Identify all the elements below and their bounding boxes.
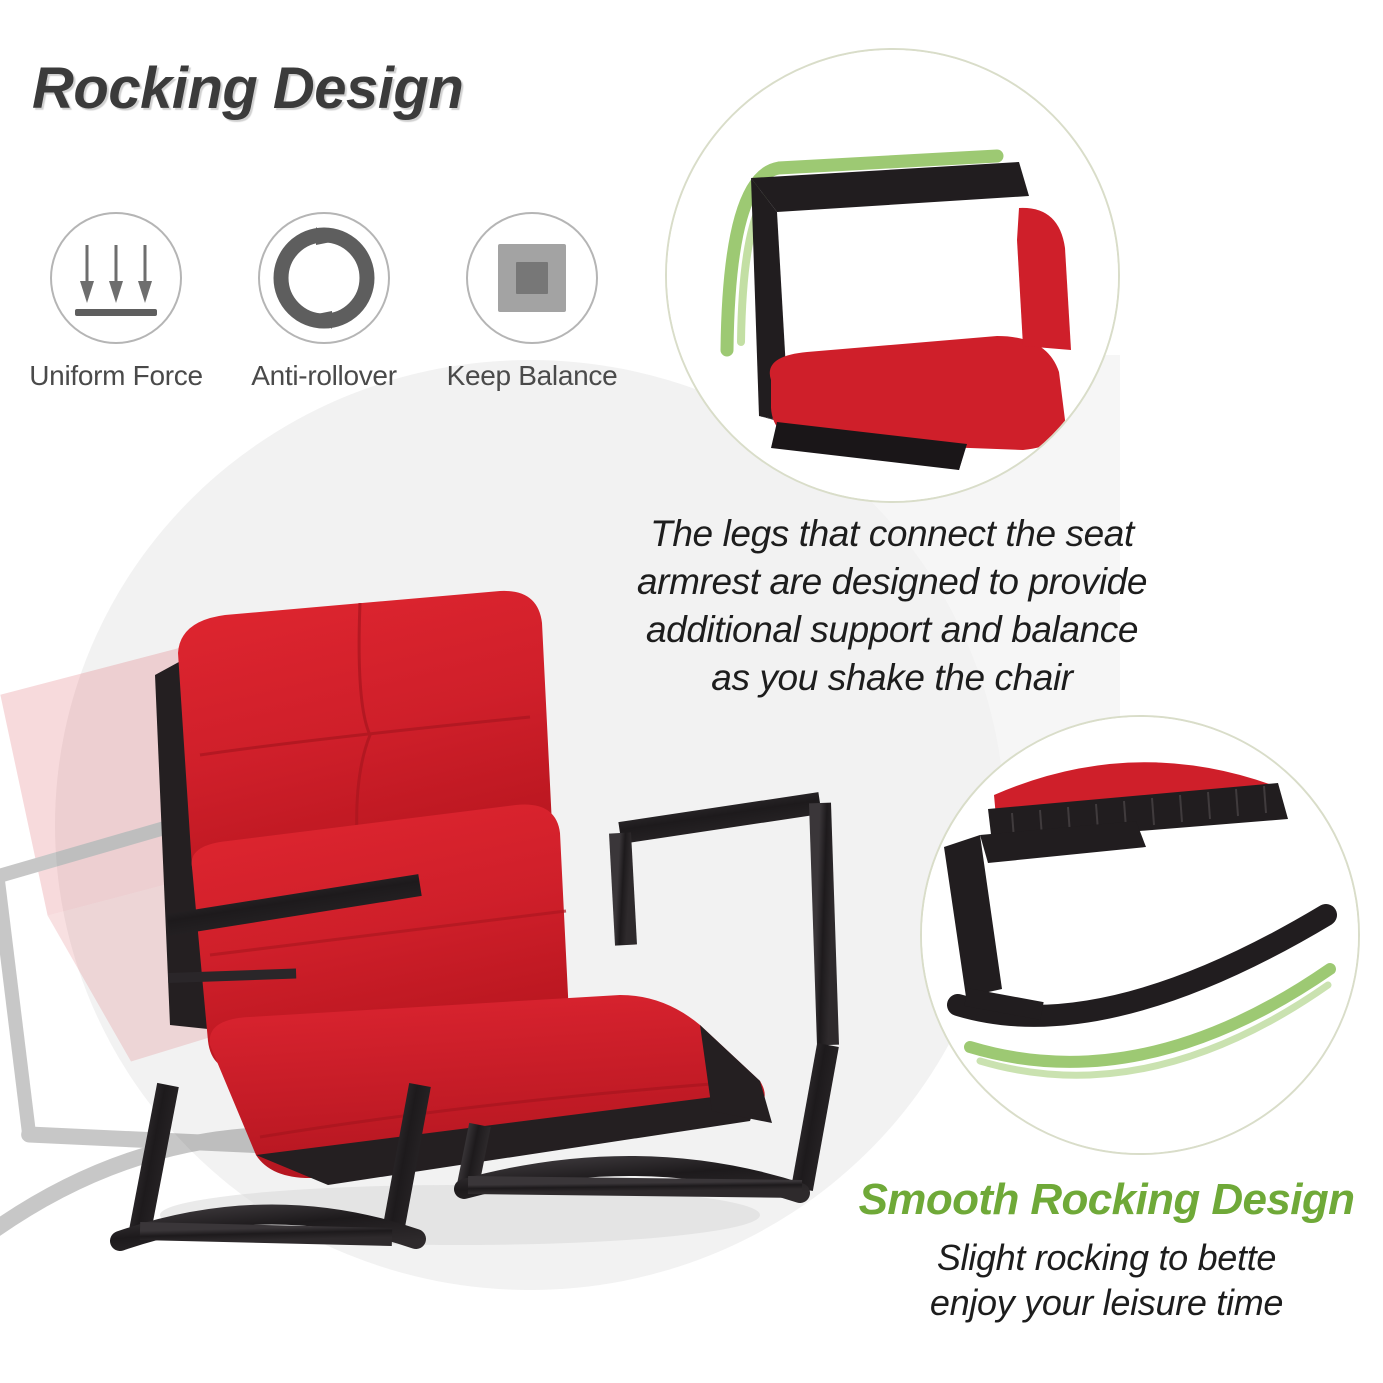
page-title: Rocking Design [32, 55, 463, 122]
feature-label: Uniform Force [29, 360, 202, 392]
armrest-frame-detail-glyph [667, 50, 1118, 501]
rotation-cycle-icon [258, 212, 390, 344]
bottom-caption-block: Smooth Rocking Design Slight rocking to … [830, 1175, 1383, 1326]
feature-item-uniform-force: Uniform Force [12, 212, 220, 392]
bottom-caption-line-1: Slight rocking to bette [830, 1235, 1383, 1280]
feature-label: Anti-rollover [251, 360, 396, 392]
bottom-caption-subtext: Slight rocking to bette enjoy your leisu… [830, 1235, 1383, 1326]
feature-label: Keep Balance [447, 360, 618, 392]
nested-squares-icon [466, 212, 598, 344]
armrest-frame-detail-photo [665, 48, 1120, 503]
bottom-caption-line-2: enjoy your leisure time [830, 1280, 1383, 1325]
infographic-page: Rocking Design Uniform Force [0, 0, 1383, 1383]
feature-item-keep-balance: Keep Balance [428, 212, 636, 392]
rotation-cycle-glyph [269, 223, 379, 333]
rocker-base-curve-detail-photo [920, 715, 1360, 1155]
callout-description: The legs that connect the seat armrest a… [612, 510, 1172, 702]
callout-line-4: as you shake the chair [612, 654, 1172, 702]
downward-force-arrows-icon [50, 212, 182, 344]
bottom-caption-heading: Smooth Rocking Design [830, 1175, 1383, 1225]
callout-line-3: additional support and balance [612, 606, 1172, 654]
nested-squares-glyph [477, 223, 587, 333]
rocker-base-detail-glyph [922, 717, 1358, 1153]
feature-item-anti-rollover: Anti-rollover [220, 212, 428, 392]
callout-line-1: The legs that connect the seat [612, 510, 1172, 558]
feature-icon-row: Uniform Force Anti-rollover Keep Bal [12, 212, 636, 392]
downward-force-arrows-glyph [61, 223, 171, 333]
callout-line-2: armrest are designed to provide [612, 558, 1172, 606]
